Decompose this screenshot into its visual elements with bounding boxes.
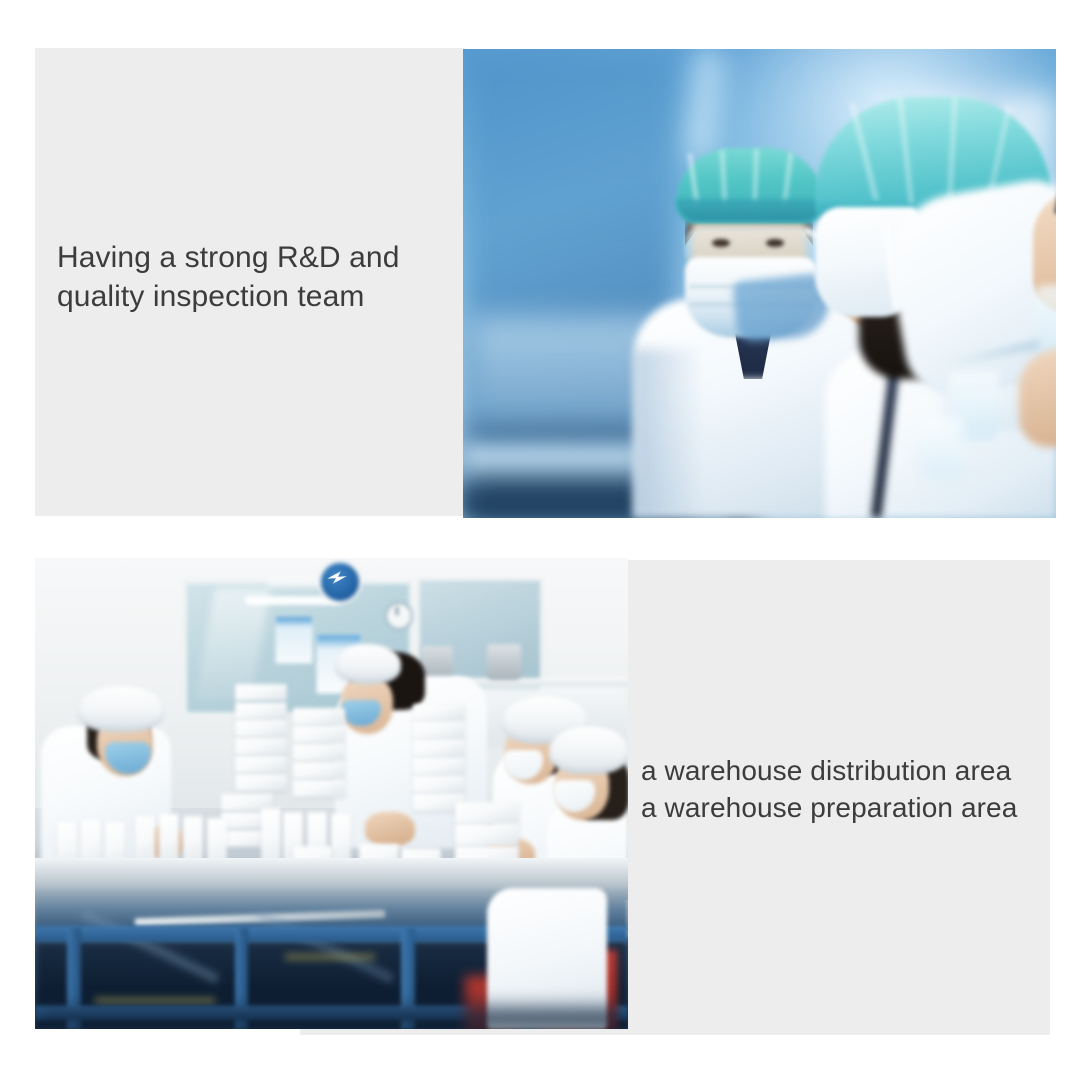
packer-2-hairnet: [335, 644, 401, 684]
product-box: [293, 726, 345, 743]
page-root: Having a strong R&D and quality inspecti…: [0, 0, 1080, 1080]
caption-rd-quality-line1: Having a strong R&D and: [57, 238, 457, 277]
product-box: [293, 744, 345, 761]
caption-rd-quality: Having a strong R&D and quality inspecti…: [57, 238, 457, 316]
product-box: [235, 756, 287, 773]
warehouse-section: a warehouse distribution area a warehous…: [0, 540, 1080, 1080]
rd-quality-section: Having a strong R&D and quality inspecti…: [0, 0, 1080, 540]
clock-hand-icon: [396, 607, 398, 615]
product-box: [455, 824, 519, 846]
technician-a-coat-shadow: [633, 349, 703, 518]
steel-container: [421, 646, 453, 680]
product-box: [413, 758, 465, 775]
product-box: [293, 780, 345, 797]
product-box: [235, 720, 287, 737]
packer-4-hairnet: [549, 726, 628, 774]
product-box: [455, 802, 519, 824]
product-box: [235, 738, 287, 755]
product-box: [413, 704, 465, 721]
packer-1-hairnet: [77, 686, 165, 732]
floor-marking-tape: [285, 954, 375, 960]
product-box: [413, 776, 465, 793]
product-box: [235, 702, 287, 719]
wall-notice-board: [275, 616, 313, 664]
steel-container: [487, 644, 521, 680]
glass-jar-left: [921, 417, 963, 479]
product-box: [235, 774, 287, 791]
product-box: [235, 684, 287, 701]
caption-warehouse-line2: a warehouse preparation area: [641, 789, 1051, 826]
technician-a-eye-right: [766, 239, 784, 247]
warehouse-packing-photo: [35, 558, 628, 1029]
product-box: [293, 708, 345, 725]
caption-warehouse-line1: a warehouse distribution area: [641, 752, 1051, 789]
floor-marking-tape: [95, 998, 215, 1004]
technician-a-hairnet-band: [676, 199, 824, 221]
floor-shadow: [35, 1006, 628, 1029]
caption-rd-quality-line2: quality inspection team: [57, 277, 457, 316]
packer-2-hand: [365, 812, 415, 846]
product-box: [413, 722, 465, 739]
product-box: [293, 762, 345, 779]
lab-technicians-photo: [463, 49, 1056, 518]
wall-sign-icon: [318, 560, 362, 604]
caption-warehouse: a warehouse distribution area a warehous…: [641, 752, 1051, 826]
technician-a-eye-left: [712, 239, 730, 247]
product-box: [413, 740, 465, 757]
wall-clock-icon: [385, 602, 413, 630]
